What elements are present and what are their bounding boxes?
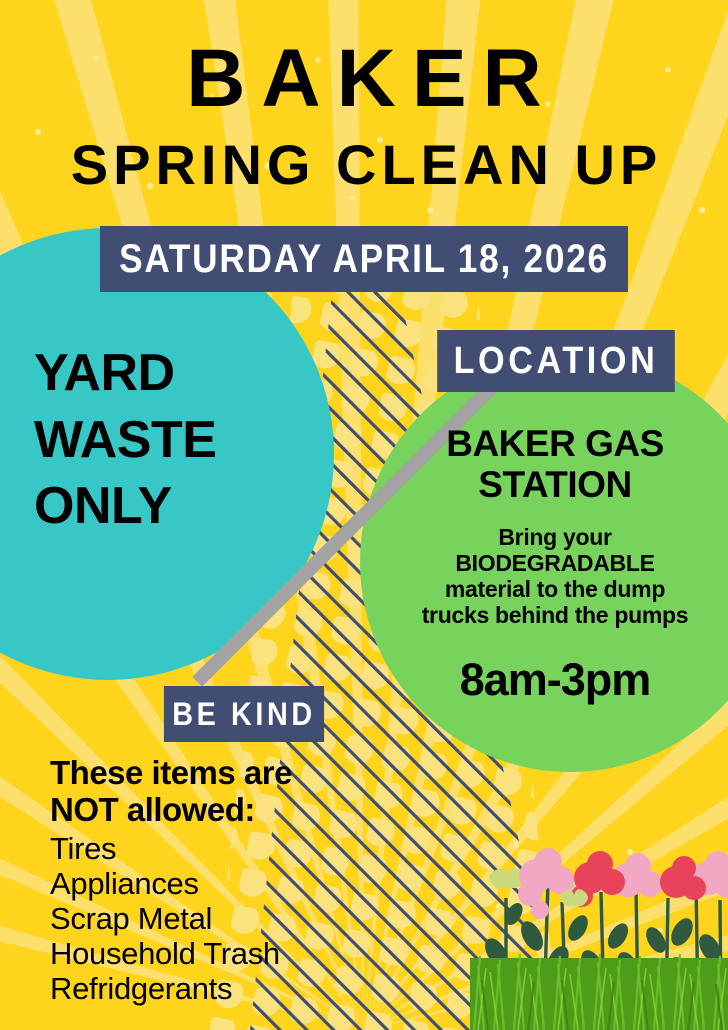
yard-waste-line-3: ONLY [34, 473, 304, 540]
drop-off-instructions: Bring your BIODEGRADABLE material to the… [390, 525, 720, 628]
yard-waste-text-block: YARD WASTE ONLY [34, 340, 304, 540]
venue-line-2: STATION [390, 465, 720, 506]
venue-name: BAKER GAS STATION [390, 424, 720, 505]
not-allowed-item-list: Tires Appliances Scrap Metal Household T… [50, 831, 380, 1006]
location-details-block: BAKER GAS STATION Bring your BIODEGRADAB… [390, 424, 720, 706]
headline-secondary: SPRING CLEAN UP [5, 136, 728, 195]
venue-line-1: BAKER GAS [390, 424, 720, 465]
instructions-line-1: Bring your [390, 525, 720, 551]
list-item: Household Trash [50, 936, 380, 971]
grass-and-flowers-illustration [470, 840, 728, 1030]
list-item: Tires [50, 831, 380, 866]
instructions-line-4: trucks behind the pumps [390, 603, 720, 629]
be-kind-banner: BE KIND [164, 686, 324, 742]
list-item: Refridgerants [50, 971, 380, 1006]
location-banner: LOCATION [437, 330, 675, 392]
instructions-line-3: material to the dump [390, 577, 720, 603]
list-item: Scrap Metal [50, 901, 380, 936]
not-allowed-heading-line-1: These items are [50, 755, 380, 792]
date-banner: SATURDAY APRIL 18, 2026 [100, 226, 628, 292]
not-allowed-block: These items are NOT allowed: Tires Appli… [50, 755, 380, 1006]
not-allowed-heading: These items are NOT allowed: [50, 755, 380, 829]
headline-primary: BAKER [16, 40, 728, 118]
event-hours: 8am-3pm [390, 654, 720, 706]
not-allowed-heading-line-2: NOT allowed: [50, 792, 380, 829]
yard-waste-line-2: WASTE [34, 407, 304, 474]
poster-headline: BAKER SPRING CLEAN UP [0, 40, 728, 195]
instructions-line-2: BIODEGRADABLE [390, 551, 720, 577]
poster-canvas: BAKER SPRING CLEAN UP SATURDAY APRIL 18,… [0, 0, 728, 1030]
yard-waste-line-1: YARD [34, 340, 304, 407]
list-item: Appliances [50, 866, 380, 901]
